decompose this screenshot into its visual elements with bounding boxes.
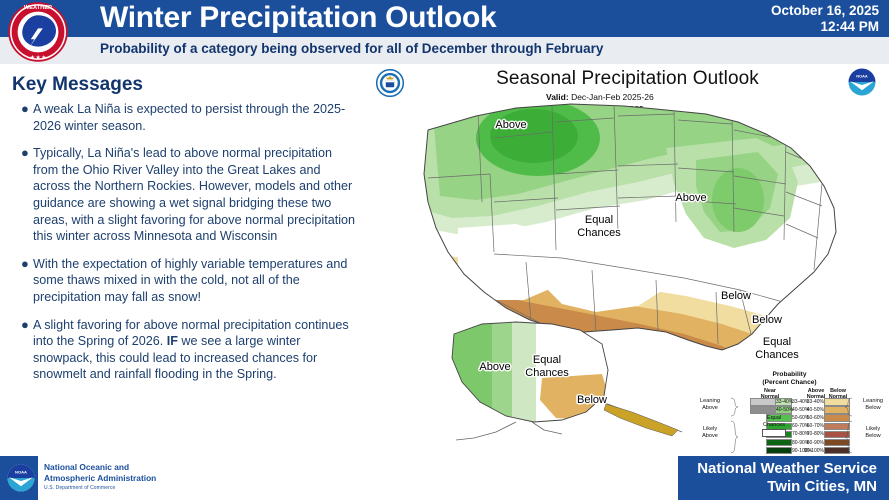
nws-seal-icon: WEATHER ★ ★ ★ [8, 2, 68, 62]
legend-braces [690, 371, 889, 459]
alaska-inset [446, 318, 682, 440]
key-message-text: With the expectation of highly variable … [33, 256, 358, 306]
bullet-icon: ● [18, 256, 33, 306]
svg-text:★ ★ ★: ★ ★ ★ [30, 55, 46, 61]
map-label-northern-rockies: Above [495, 119, 526, 132]
key-message-item: ●A weak La Niña is expected to persist t… [18, 101, 358, 134]
key-message-text: A weak La Niña is expected to persist th… [33, 101, 358, 134]
footer-noaa-line3: U.S. Department of Commerce [44, 483, 156, 494]
svg-text:NOAA: NOAA [856, 74, 868, 79]
page-title: Winter Precipitation Outlook [100, 1, 496, 35]
header-date: October 16, 2025 [771, 3, 879, 19]
map-label-southeast: Below [752, 314, 782, 327]
bullet-icon: ● [18, 145, 33, 245]
map-label-central-plains: EqualChances [577, 214, 620, 239]
map-label-gulf-coast: Below [721, 290, 751, 303]
key-message-item: ●With the expectation of highly variable… [18, 256, 358, 306]
header-subtitle: Probability of a category being observed… [100, 41, 603, 56]
key-message-item: ●Typically, La Niña's lead to above norm… [18, 145, 358, 245]
probability-legend: Probability (Percent Chance) Above Norma… [690, 371, 889, 459]
key-message-text: A slight favoring for above normal preci… [33, 317, 358, 383]
map-label-alaska-west: Above [479, 361, 510, 374]
footer-office-line2: Twin Cities, MN [697, 478, 877, 496]
footer-office-line1: National Weather Service [697, 460, 877, 478]
key-message-item: ●A slight favoring for above normal prec… [18, 317, 358, 383]
key-messages-heading: Key Messages [12, 74, 143, 96]
key-messages-list: ●A weak La Niña is expected to persist t… [18, 101, 358, 394]
map-label-alaska-interior: EqualChances [525, 354, 568, 379]
bullet-icon: ● [18, 101, 33, 134]
footer-noaa-line1: National Oceanic and [44, 462, 156, 473]
footer-noaa-line2: Atmospheric Administration [44, 473, 156, 484]
key-message-text: Typically, La Niña's lead to above norma… [33, 145, 358, 245]
bullet-icon: ● [18, 317, 33, 383]
noaa-logo-footer-icon: NOAA [6, 463, 36, 493]
svg-text:NOAA: NOAA [15, 470, 27, 475]
footer-office: National Weather Service Twin Cities, MN [697, 460, 877, 496]
svg-text:WEATHER: WEATHER [24, 5, 52, 11]
header-time: 12:44 PM [771, 19, 879, 35]
map-label-ohio-valley: Above [675, 192, 706, 205]
footer-noaa-text: National Oceanic and Atmospheric Adminis… [44, 462, 156, 494]
map-label-florida: EqualChances [755, 336, 798, 361]
winter-precipitation-outlook-infographic: WEATHER ★ ★ ★ Winter Precipitation Outlo… [0, 0, 889, 500]
header-datetime: October 16, 2025 12:44 PM [771, 3, 879, 35]
map-label-alaska-panhandle: Below [577, 394, 607, 407]
